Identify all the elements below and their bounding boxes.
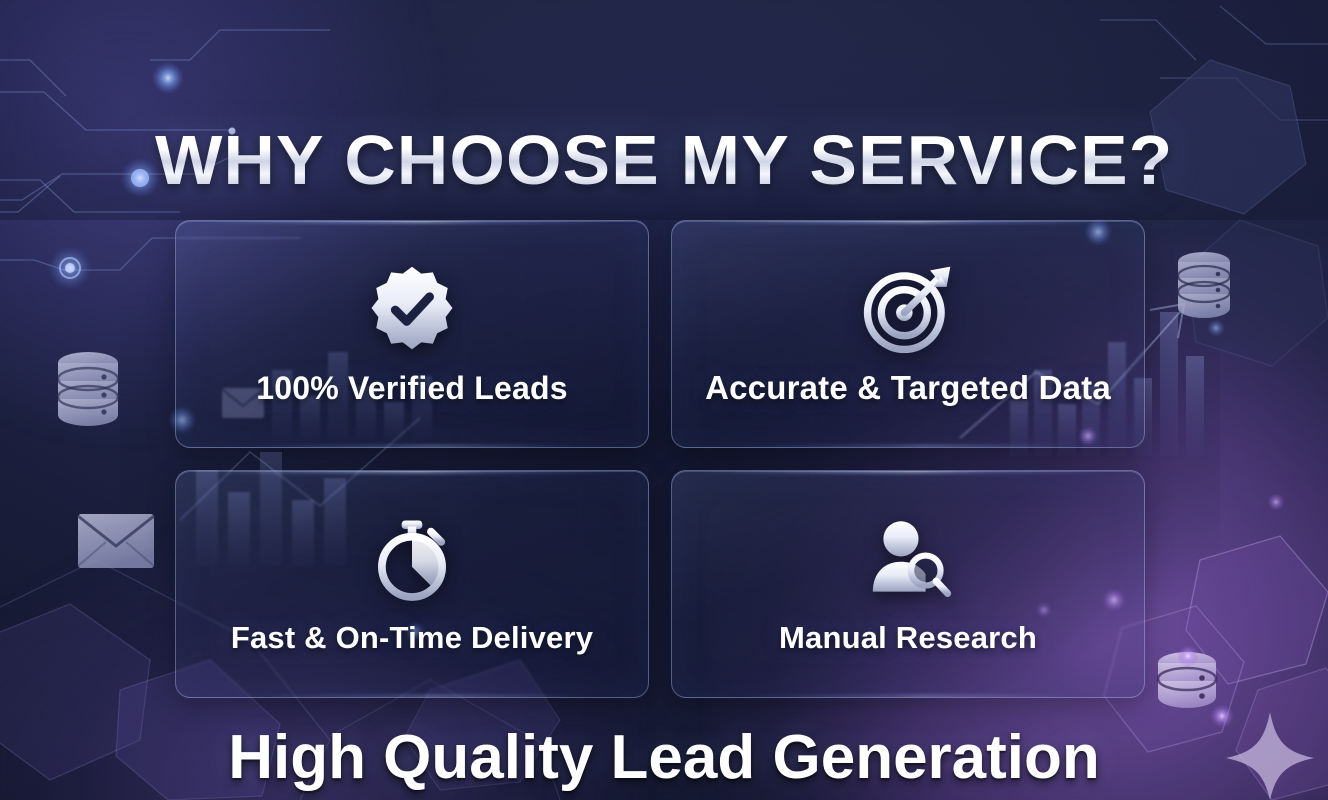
feature-card-accurate-targeted-data[interactable]: Accurate & Targeted Data	[671, 220, 1145, 448]
feature-card-verified-leads[interactable]: 100% Verified Leads	[175, 220, 649, 448]
feature-card-label: Manual Research	[763, 620, 1053, 655]
target-arrow-icon	[860, 261, 956, 357]
feature-card-manual-research[interactable]: Manual Research	[671, 470, 1145, 698]
page-title-container: WHY CHOOSE MY SERVICE?	[0, 78, 1328, 242]
feature-card-label: Accurate & Targeted Data	[689, 369, 1127, 407]
footer-container: High Quality Lead Generation	[0, 725, 1328, 790]
feature-card-label: 100% Verified Leads	[240, 370, 584, 406]
footer-tagline: High Quality Lead Generation	[228, 725, 1100, 790]
feature-card-grid: 100% Verified Leads Accurate & Targeted …	[175, 220, 1145, 698]
stopwatch-icon	[364, 512, 460, 608]
person-search-icon	[860, 512, 956, 608]
feature-card-label: Fast & On-Time Delivery	[215, 620, 609, 655]
verified-badge-icon	[364, 262, 460, 358]
page-title: WHY CHOOSE MY SERVICE?	[155, 125, 1173, 195]
feature-card-fast-delivery[interactable]: Fast & On-Time Delivery	[175, 470, 649, 698]
poster-canvas: WHY CHOOSE MY SERVICE? 100% Verified Lea…	[0, 0, 1328, 800]
